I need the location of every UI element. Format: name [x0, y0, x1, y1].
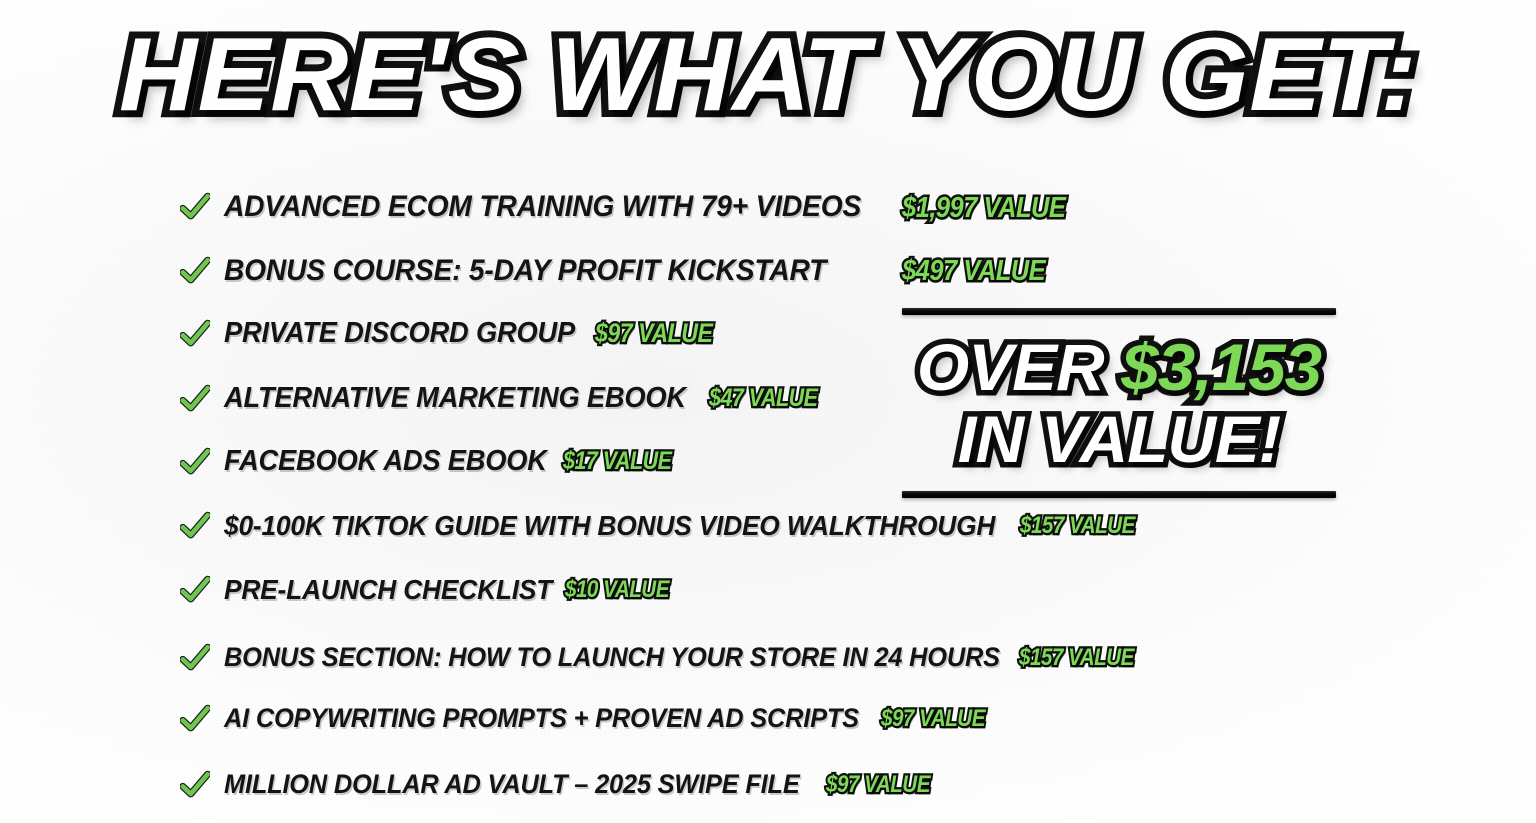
list-item-label: ALTERNATIVE MARKETING EBOOK [224, 382, 686, 415]
total-value-panel: OVER $3,153 IN VALUE! [900, 308, 1338, 498]
list-item-label: BONUS SECTION: HOW TO LAUNCH YOUR STORE … [224, 642, 1000, 673]
check-icon [180, 447, 210, 477]
list-item: PRIVATE DISCORD GROUP $97 VALUE [180, 317, 732, 350]
list-item: FACEBOOK ADS EBOOK $17 VALUE [180, 445, 690, 478]
total-amount: $3,153 [1121, 330, 1321, 404]
value-badge: $1,997 VALUE [902, 192, 1065, 225]
list-item-label: AI COPYWRITING PROMPTS + PROVEN AD SCRIP… [224, 703, 859, 734]
list-item-label: FACEBOOK ADS EBOOK [224, 445, 547, 478]
check-icon [180, 511, 210, 541]
list-item: $0-100K TIKTOK GUIDE WITH BONUS VIDEO WA… [180, 510, 1154, 542]
check-icon [180, 643, 210, 673]
check-icon [180, 256, 210, 286]
promo-value-stack: HERE'S WHAT YOU GET: ADVANCED ECOM TRAIN… [0, 0, 1536, 823]
value-badge: $497 VALUE [902, 255, 1045, 288]
divider-top [902, 308, 1336, 315]
page-title-text: HERE'S WHAT YOU GET: [119, 17, 1417, 133]
value-badge: $17 VALUE [563, 447, 671, 476]
list-item: AI COPYWRITING PROMPTS + PROVEN AD SCRIP… [180, 703, 1002, 734]
value-badge: $97 VALUE [881, 705, 985, 733]
value-badge: $157 VALUE [1019, 644, 1134, 672]
check-icon [180, 192, 210, 222]
total-prefix: OVER [917, 330, 1104, 404]
list-item: BONUS SECTION: HOW TO LAUNCH YOUR STORE … [180, 642, 1153, 673]
value-badge: $10 VALUE [565, 576, 669, 604]
list-item-label: MILLION DOLLAR AD VAULT – 2025 SWIPE FIL… [224, 769, 800, 800]
value-badge: $97 VALUE [595, 318, 713, 349]
page-title: HERE'S WHAT YOU GET: [0, 22, 1536, 128]
value-badge: $157 VALUE [1020, 512, 1135, 540]
check-icon [180, 319, 210, 349]
list-item-label: PRIVATE DISCORD GROUP [224, 317, 575, 350]
list-item: PRE-LAUNCH CHECKLIST $10 VALUE [180, 574, 686, 606]
list-item-label: ADVANCED ECOM TRAINING WITH 79+ VIDEOS [224, 190, 861, 224]
list-item: BONUS COURSE: 5-DAY PROFIT KICKSTART [180, 254, 865, 288]
list-item-label: BONUS COURSE: 5-DAY PROFIT KICKSTART [224, 254, 826, 288]
check-icon [180, 575, 210, 605]
check-icon [180, 770, 210, 800]
list-item-label: PRE-LAUNCH CHECKLIST [224, 574, 552, 606]
total-value-line-2: IN VALUE! [896, 406, 1343, 472]
list-item: MILLION DOLLAR AD VAULT – 2025 SWIPE FIL… [180, 769, 947, 800]
value-badge: $47 VALUE [709, 384, 817, 413]
divider-bottom [902, 491, 1336, 498]
check-icon [180, 704, 210, 734]
total-spacer [1104, 330, 1122, 404]
list-item: ALTERNATIVE MARKETING EBOOK $47 VALUE [180, 382, 836, 415]
total-value-line-1: OVER $3,153 [896, 334, 1343, 400]
list-item-label: $0-100K TIKTOK GUIDE WITH BONUS VIDEO WA… [224, 510, 995, 542]
check-icon [180, 384, 210, 414]
value-badge: $97 VALUE [826, 771, 930, 799]
list-item: ADVANCED ECOM TRAINING WITH 79+ VIDEOS [180, 190, 902, 224]
